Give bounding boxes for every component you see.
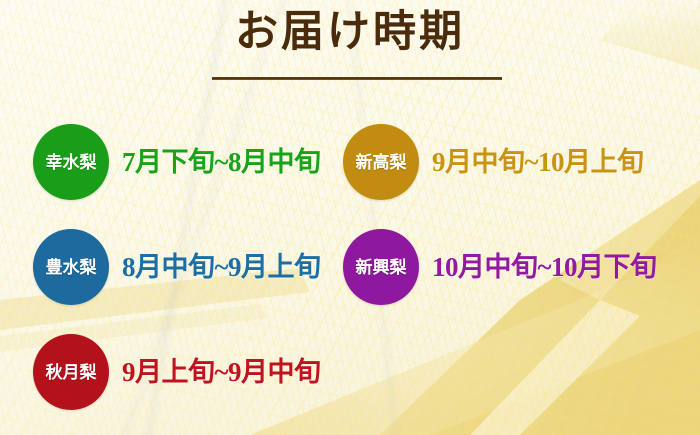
delivery-period-text: 10月中旬~10月下旬: [432, 254, 657, 281]
page-title-wrap: お届け時期: [0, 8, 700, 57]
schedule-row: 新高梨 9月中旬~10月上旬: [343, 124, 644, 200]
schedule-grid: 幸水梨 7月下旬~8月中旬 豊水梨 8月中旬~9月上旬 秋月梨 9月上旬~9月中…: [0, 110, 700, 435]
delivery-period-text: 9月上旬~9月中旬: [122, 359, 321, 386]
variety-badge-label: 新興梨: [356, 259, 407, 276]
delivery-period-text: 7月下旬~8月中旬: [122, 149, 321, 176]
schedule-row: 秋月梨 9月上旬~9月中旬: [33, 334, 321, 410]
variety-badge-niitaka: 新高梨: [343, 124, 419, 200]
schedule-row: 豊水梨 8月中旬~9月上旬: [33, 229, 321, 305]
variety-badge-kousui: 幸水梨: [33, 124, 109, 200]
delivery-schedule-banner: お届け時期 幸水梨 7月下旬~8月中旬 豊水梨 8月中旬~9月上旬 秋月梨 9月…: [0, 0, 700, 435]
title-underline: [212, 77, 502, 80]
variety-badge-label: 新高梨: [356, 154, 407, 171]
delivery-period-text: 9月中旬~10月上旬: [432, 149, 644, 176]
variety-badge-label: 豊水梨: [46, 259, 97, 276]
variety-badge-shinko: 新興梨: [343, 229, 419, 305]
variety-badge-housui: 豊水梨: [33, 229, 109, 305]
variety-badge-label: 幸水梨: [46, 154, 97, 171]
schedule-row: 幸水梨 7月下旬~8月中旬: [33, 124, 321, 200]
schedule-row: 新興梨 10月中旬~10月下旬: [343, 229, 657, 305]
variety-badge-label: 秋月梨: [46, 364, 97, 381]
delivery-period-text: 8月中旬~9月上旬: [122, 254, 321, 281]
page-title: お届け時期: [235, 8, 465, 57]
variety-badge-akizuki: 秋月梨: [33, 334, 109, 410]
